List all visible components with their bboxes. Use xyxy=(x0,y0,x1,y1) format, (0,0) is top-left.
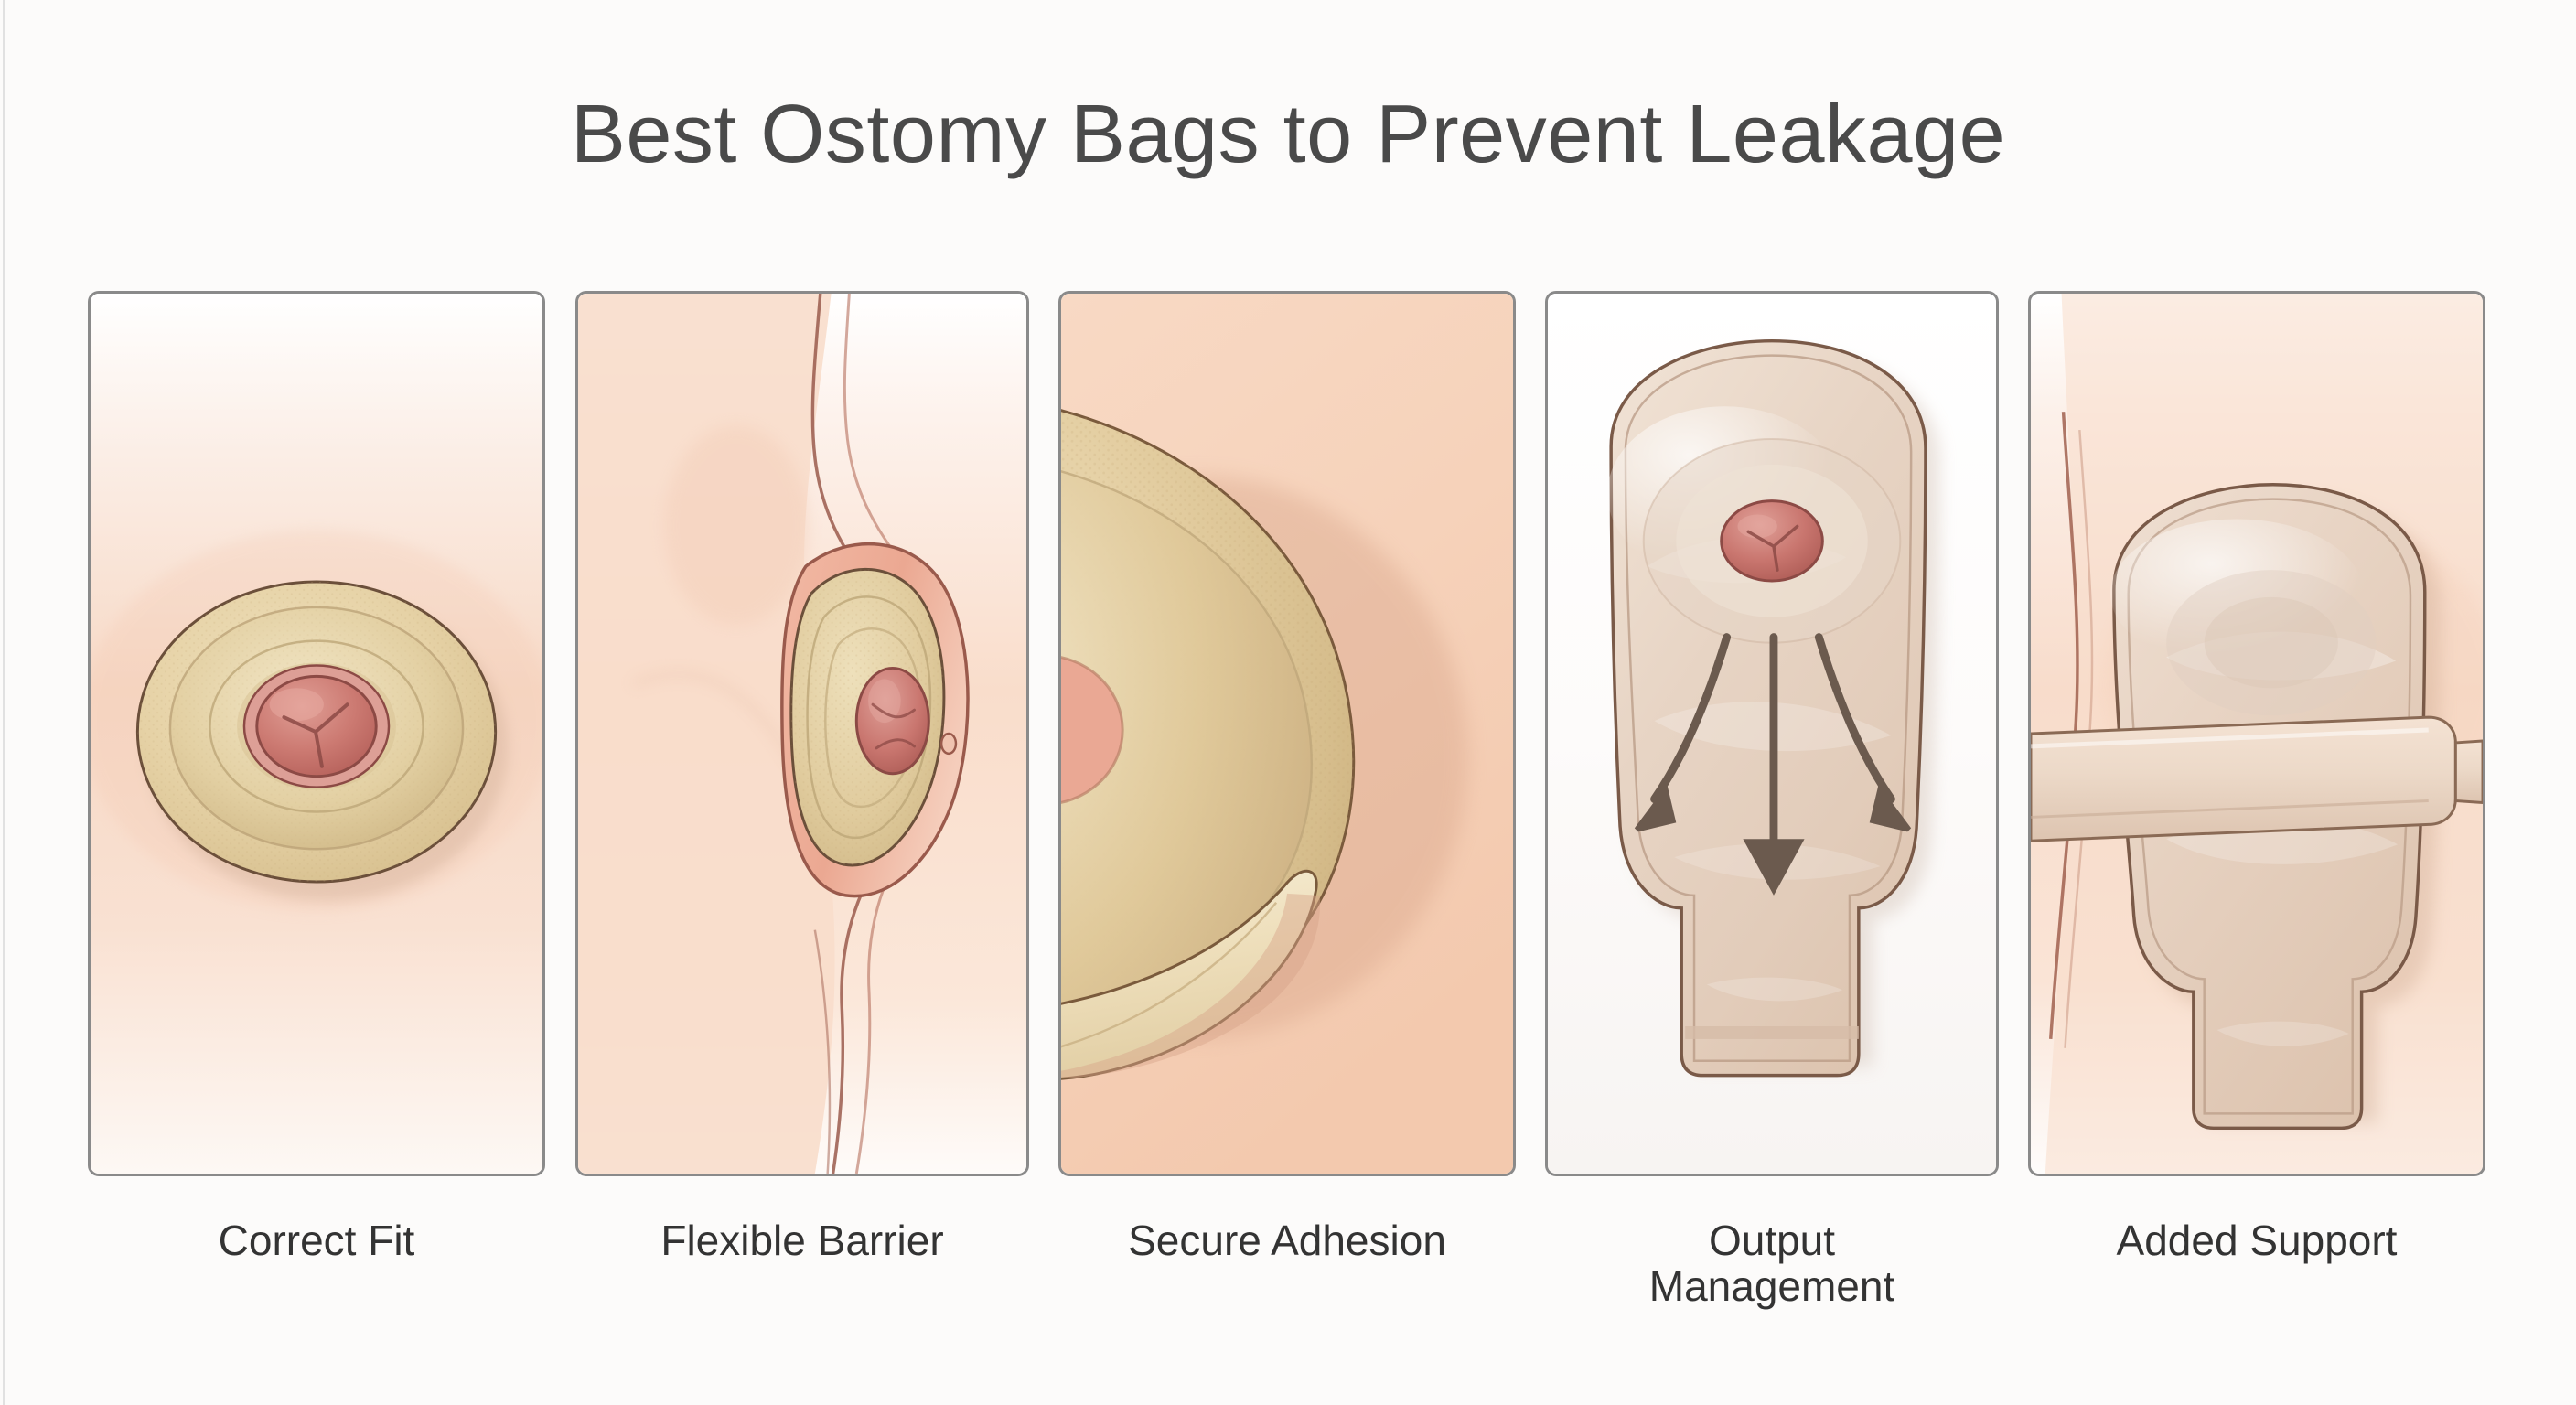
panel-added-support[interactable] xyxy=(2028,291,2485,1176)
ostomy-pouch-with-support-belt-icon xyxy=(2031,294,2483,1174)
caption-output-management: Output Management xyxy=(1545,1218,1999,1309)
panel-secure-adhesion[interactable] xyxy=(1058,291,1516,1176)
canvas-left-seam xyxy=(3,0,5,1405)
adhesive-wafer-closeup-icon xyxy=(1061,294,1513,1174)
caption-flexible-barrier: Flexible Barrier xyxy=(575,1218,1029,1264)
caption-output-management-line1: Output xyxy=(1545,1218,1999,1264)
caption-output-management-line2: Management xyxy=(1545,1264,1999,1310)
caption-correct-fit: Correct Fit xyxy=(88,1218,545,1264)
infographic-page: Best Ostomy Bags to Prevent Leakage xyxy=(0,0,2576,1405)
support-belt xyxy=(2031,717,2483,841)
page-title: Best Ostomy Bags to Prevent Leakage xyxy=(0,88,2576,182)
panel-output-management[interactable] xyxy=(1545,291,1999,1176)
ostomy-wafer-front-view-icon xyxy=(91,294,542,1174)
panel-flexible-barrier[interactable] xyxy=(575,291,1029,1176)
panel-correct-fit[interactable] xyxy=(88,291,545,1176)
caption-secure-adhesion: Secure Adhesion xyxy=(1058,1218,1516,1264)
ostomy-barrier-side-profile-icon xyxy=(578,294,1026,1174)
caption-added-support: Added Support xyxy=(2028,1218,2485,1264)
drainable-pouch-with-flow-arrows-icon xyxy=(1548,294,1996,1174)
